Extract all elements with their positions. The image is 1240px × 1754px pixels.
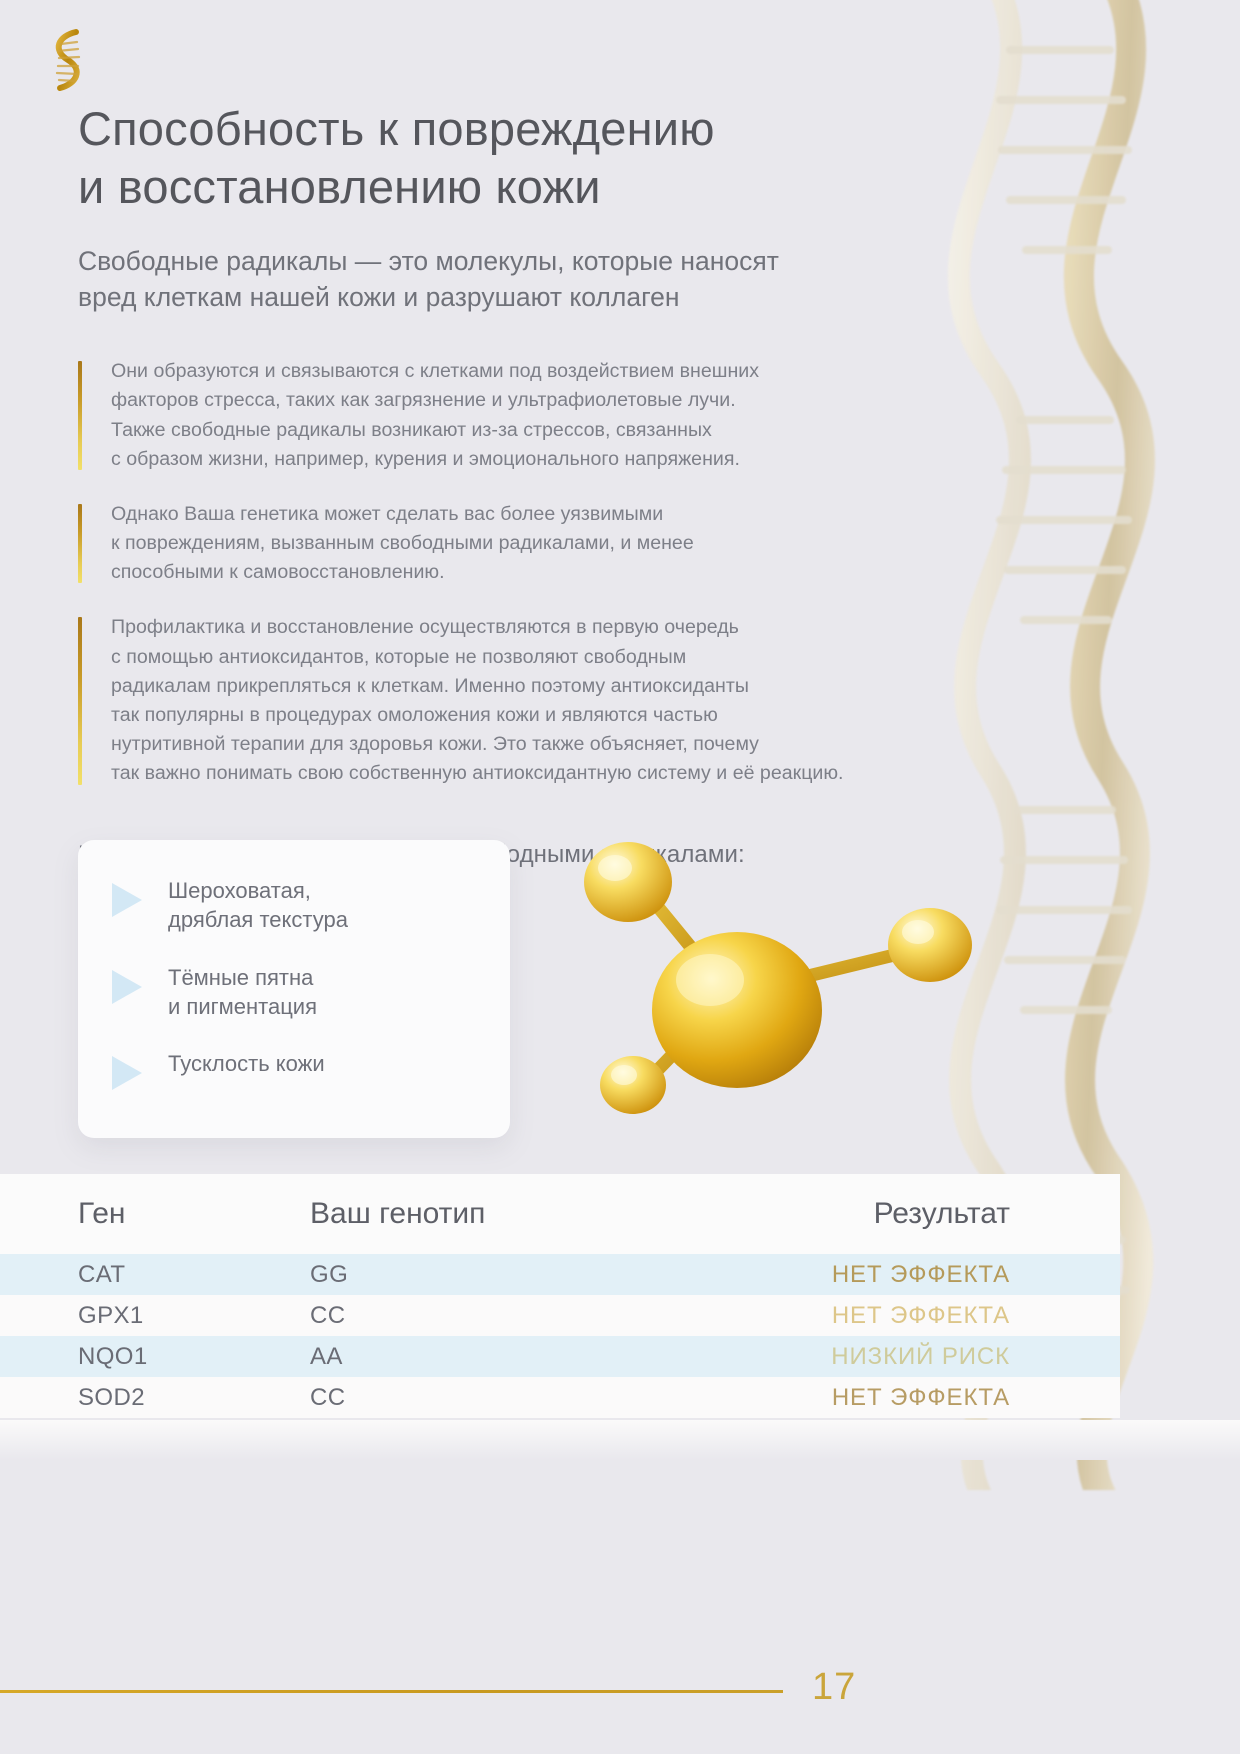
dna-helix-icon: [38, 26, 96, 96]
gene-results-table: Ген Ваш генотип Результат CAT GG НЕТ ЭФФ…: [0, 1174, 1120, 1418]
cell-result: НЕТ ЭФФЕКТА: [710, 1261, 1120, 1289]
gold-accent-bar: [78, 504, 82, 584]
table-bottom-fade: [0, 1420, 1240, 1460]
table-row: CAT GG НЕТ ЭФФЕКТА: [0, 1254, 1120, 1295]
column-header-result: Результат: [710, 1197, 1120, 1231]
page-subtitle: Свободные радикалы — это молекулы, котор…: [78, 243, 978, 316]
cell-gene: CAT: [0, 1261, 310, 1289]
list-item: Тусклость кожи: [112, 1049, 480, 1090]
page-title: Способность к повреждению и восстановлен…: [78, 100, 978, 217]
sign-label: Тусклость кожи: [168, 1049, 325, 1078]
list-item: Тёмные пятна и пигментация: [112, 963, 480, 1022]
sign-label: Тёмные пятна и пигментация: [168, 963, 317, 1022]
paragraph-text: Профилактика и восстановление осуществля…: [111, 613, 978, 788]
cell-result: НЕТ ЭФФЕКТА: [710, 1384, 1120, 1412]
visible-signs-card: Шероховатая, дряблая текстура Тёмные пят…: [78, 840, 510, 1138]
cell-genotype: AA: [310, 1343, 710, 1371]
triangle-right-icon: [112, 970, 142, 1004]
page-number: 17: [812, 1666, 856, 1709]
paragraph-list: Они образуются и связываются с клетками …: [78, 357, 978, 788]
cell-gene: GPX1: [0, 1302, 310, 1330]
table-header-row: Ген Ваш генотип Результат: [0, 1174, 1120, 1254]
triangle-right-icon: [112, 883, 142, 917]
cell-result: НЕТ ЭФФЕКТА: [710, 1302, 1120, 1330]
gold-accent-bar: [78, 617, 82, 784]
table-row: GPX1 CC НЕТ ЭФФЕКТА: [0, 1295, 1120, 1336]
cell-genotype: CC: [310, 1302, 710, 1330]
report-page: Способность к повреждению и восстановлен…: [0, 0, 1240, 1754]
main-content: Способность к повреждению и восстановлен…: [78, 100, 978, 869]
page-footer: 17: [0, 1670, 1240, 1710]
cell-genotype: GG: [310, 1261, 710, 1289]
table-row: SOD2 CC НЕТ ЭФФЕКТА: [0, 1377, 1120, 1418]
table-row: NQO1 AA НИЗКИЙ РИСК: [0, 1336, 1120, 1377]
gold-accent-bar: [78, 361, 82, 470]
paragraph-block: Однако Ваша генетика может сделать вас б…: [78, 500, 978, 588]
paragraph-block: Профилактика и восстановление осуществля…: [78, 613, 978, 788]
cell-gene: SOD2: [0, 1384, 310, 1412]
list-item: Шероховатая, дряблая текстура: [112, 876, 480, 935]
cell-gene: NQO1: [0, 1343, 310, 1371]
column-header-genotype: Ваш генотип: [310, 1197, 710, 1231]
paragraph-text: Они образуются и связываются с клетками …: [111, 357, 978, 474]
cell-result: НИЗКИЙ РИСК: [710, 1343, 1120, 1371]
paragraph-text: Однако Ваша генетика может сделать вас б…: [111, 500, 978, 588]
cell-genotype: CC: [310, 1384, 710, 1412]
gold-molecule-illustration: [545, 830, 1015, 1150]
column-header-gene: Ген: [0, 1197, 310, 1231]
paragraph-block: Они образуются и связываются с клетками …: [78, 357, 978, 474]
triangle-right-icon: [112, 1056, 142, 1090]
footer-divider: [0, 1690, 783, 1693]
sign-label: Шероховатая, дряблая текстура: [168, 876, 348, 935]
